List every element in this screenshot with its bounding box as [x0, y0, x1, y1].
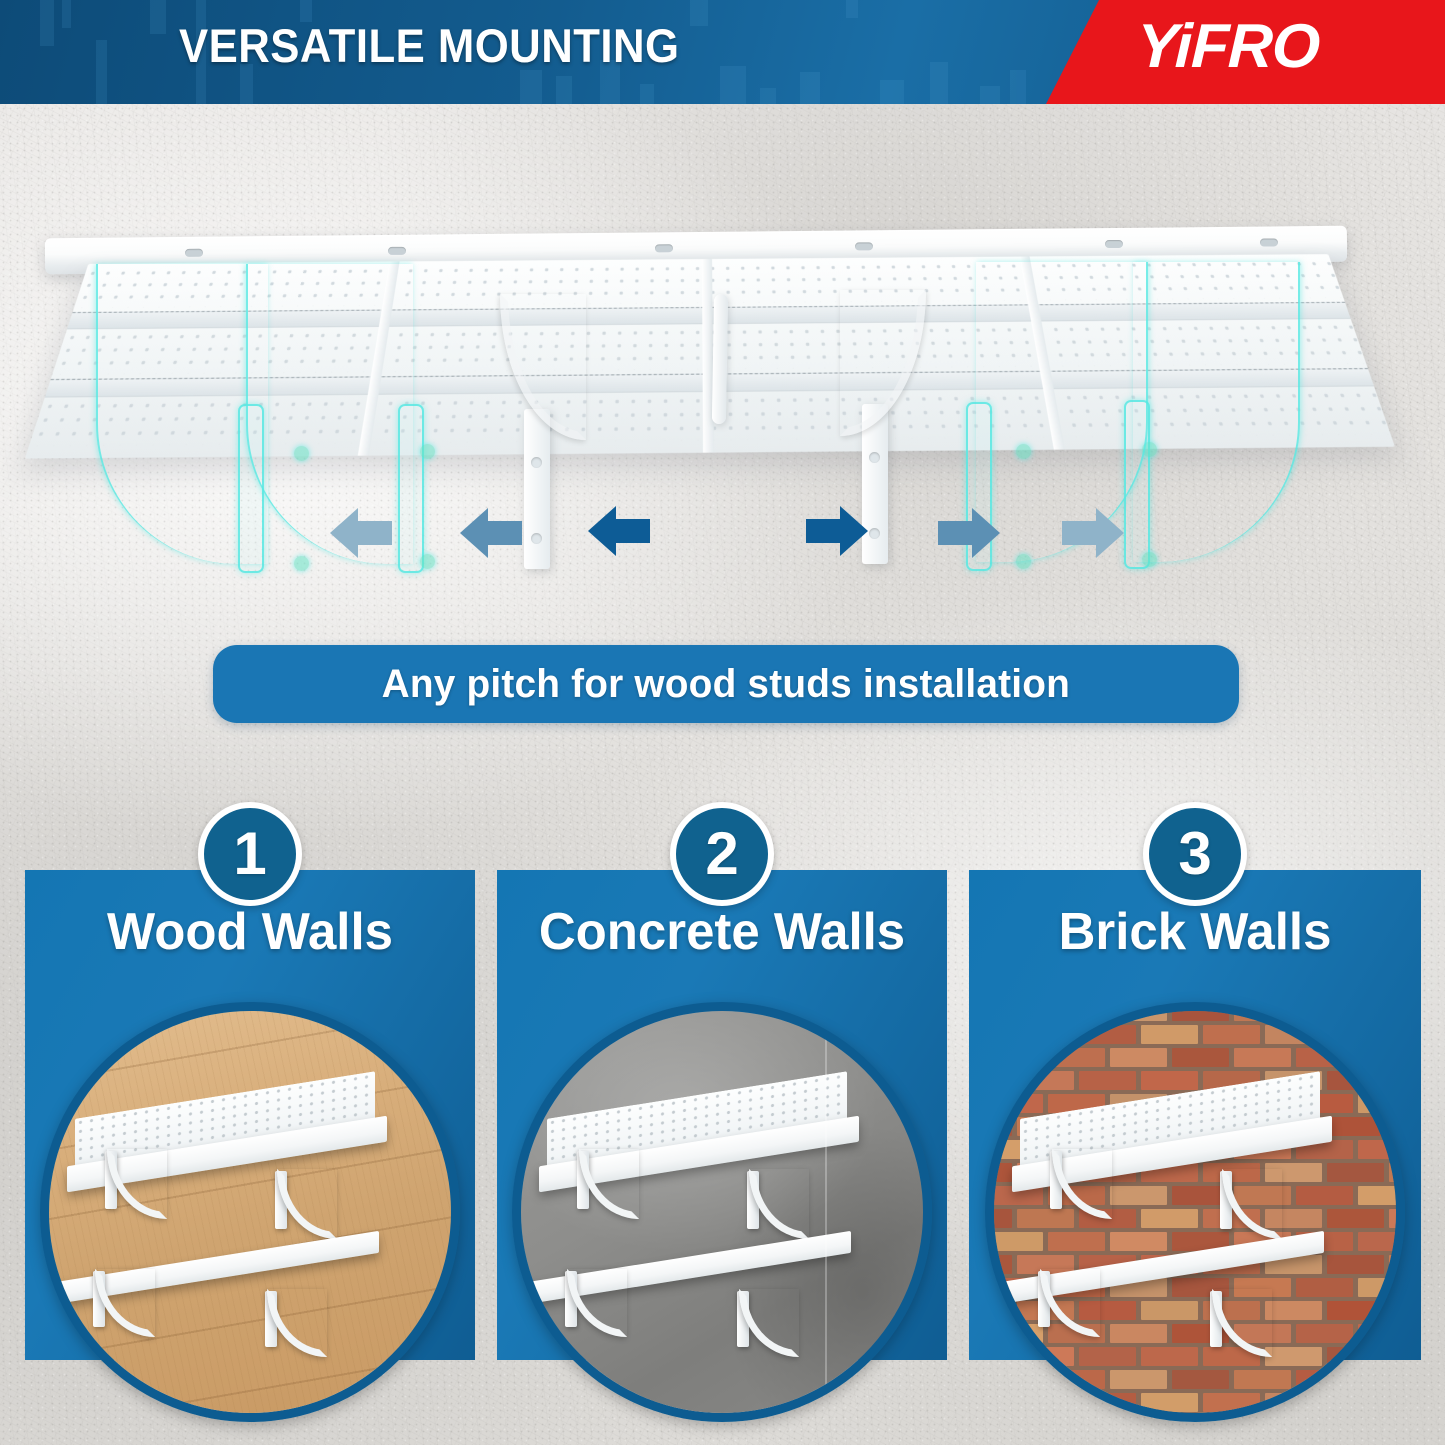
card-number-badge: 1	[198, 802, 302, 906]
card-number: 3	[1178, 824, 1211, 884]
card-photo-circle	[40, 1002, 460, 1422]
card-number-badge: 2	[670, 802, 774, 906]
card-photo-circle	[512, 1002, 932, 1422]
brick-wall-photo	[994, 1011, 1396, 1413]
bracket-gusset	[567, 1269, 627, 1337]
card-concrete-walls[interactable]: 2 Concrete Walls	[497, 870, 947, 1360]
mini-shelf-upper	[61, 1089, 391, 1219]
card-number: 1	[233, 824, 266, 884]
mini-shelf-lower	[988, 1247, 1328, 1367]
wood-wall-photo	[49, 1011, 451, 1413]
mini-shelf-upper	[1006, 1089, 1336, 1219]
card-title: Concrete Walls	[502, 902, 943, 962]
card-title: Brick Walls	[974, 902, 1417, 962]
card-photo-circle	[985, 1002, 1405, 1422]
card-number: 2	[705, 824, 738, 884]
card-wood-walls[interactable]: 1 Wood Walls	[25, 870, 475, 1360]
product-infographic: VERSATILE MOUNTING YiFRO	[0, 0, 1445, 1445]
card-brick-walls[interactable]: 3 Brick Walls	[969, 870, 1421, 1360]
mini-shelf-lower	[43, 1247, 383, 1367]
bracket-gusset	[267, 1289, 327, 1357]
bracket-gusset	[95, 1269, 155, 1337]
bracket-gusset	[739, 1289, 799, 1357]
mini-shelf-upper	[533, 1089, 863, 1219]
wall-type-cards: 1 Wood Walls	[0, 0, 1445, 1445]
card-number-badge: 3	[1143, 802, 1247, 906]
mini-shelf-lower	[515, 1247, 855, 1367]
concrete-wall-photo	[521, 1011, 923, 1413]
card-title: Wood Walls	[30, 902, 471, 962]
bracket-gusset	[1040, 1269, 1100, 1337]
bracket-gusset	[1212, 1289, 1272, 1357]
